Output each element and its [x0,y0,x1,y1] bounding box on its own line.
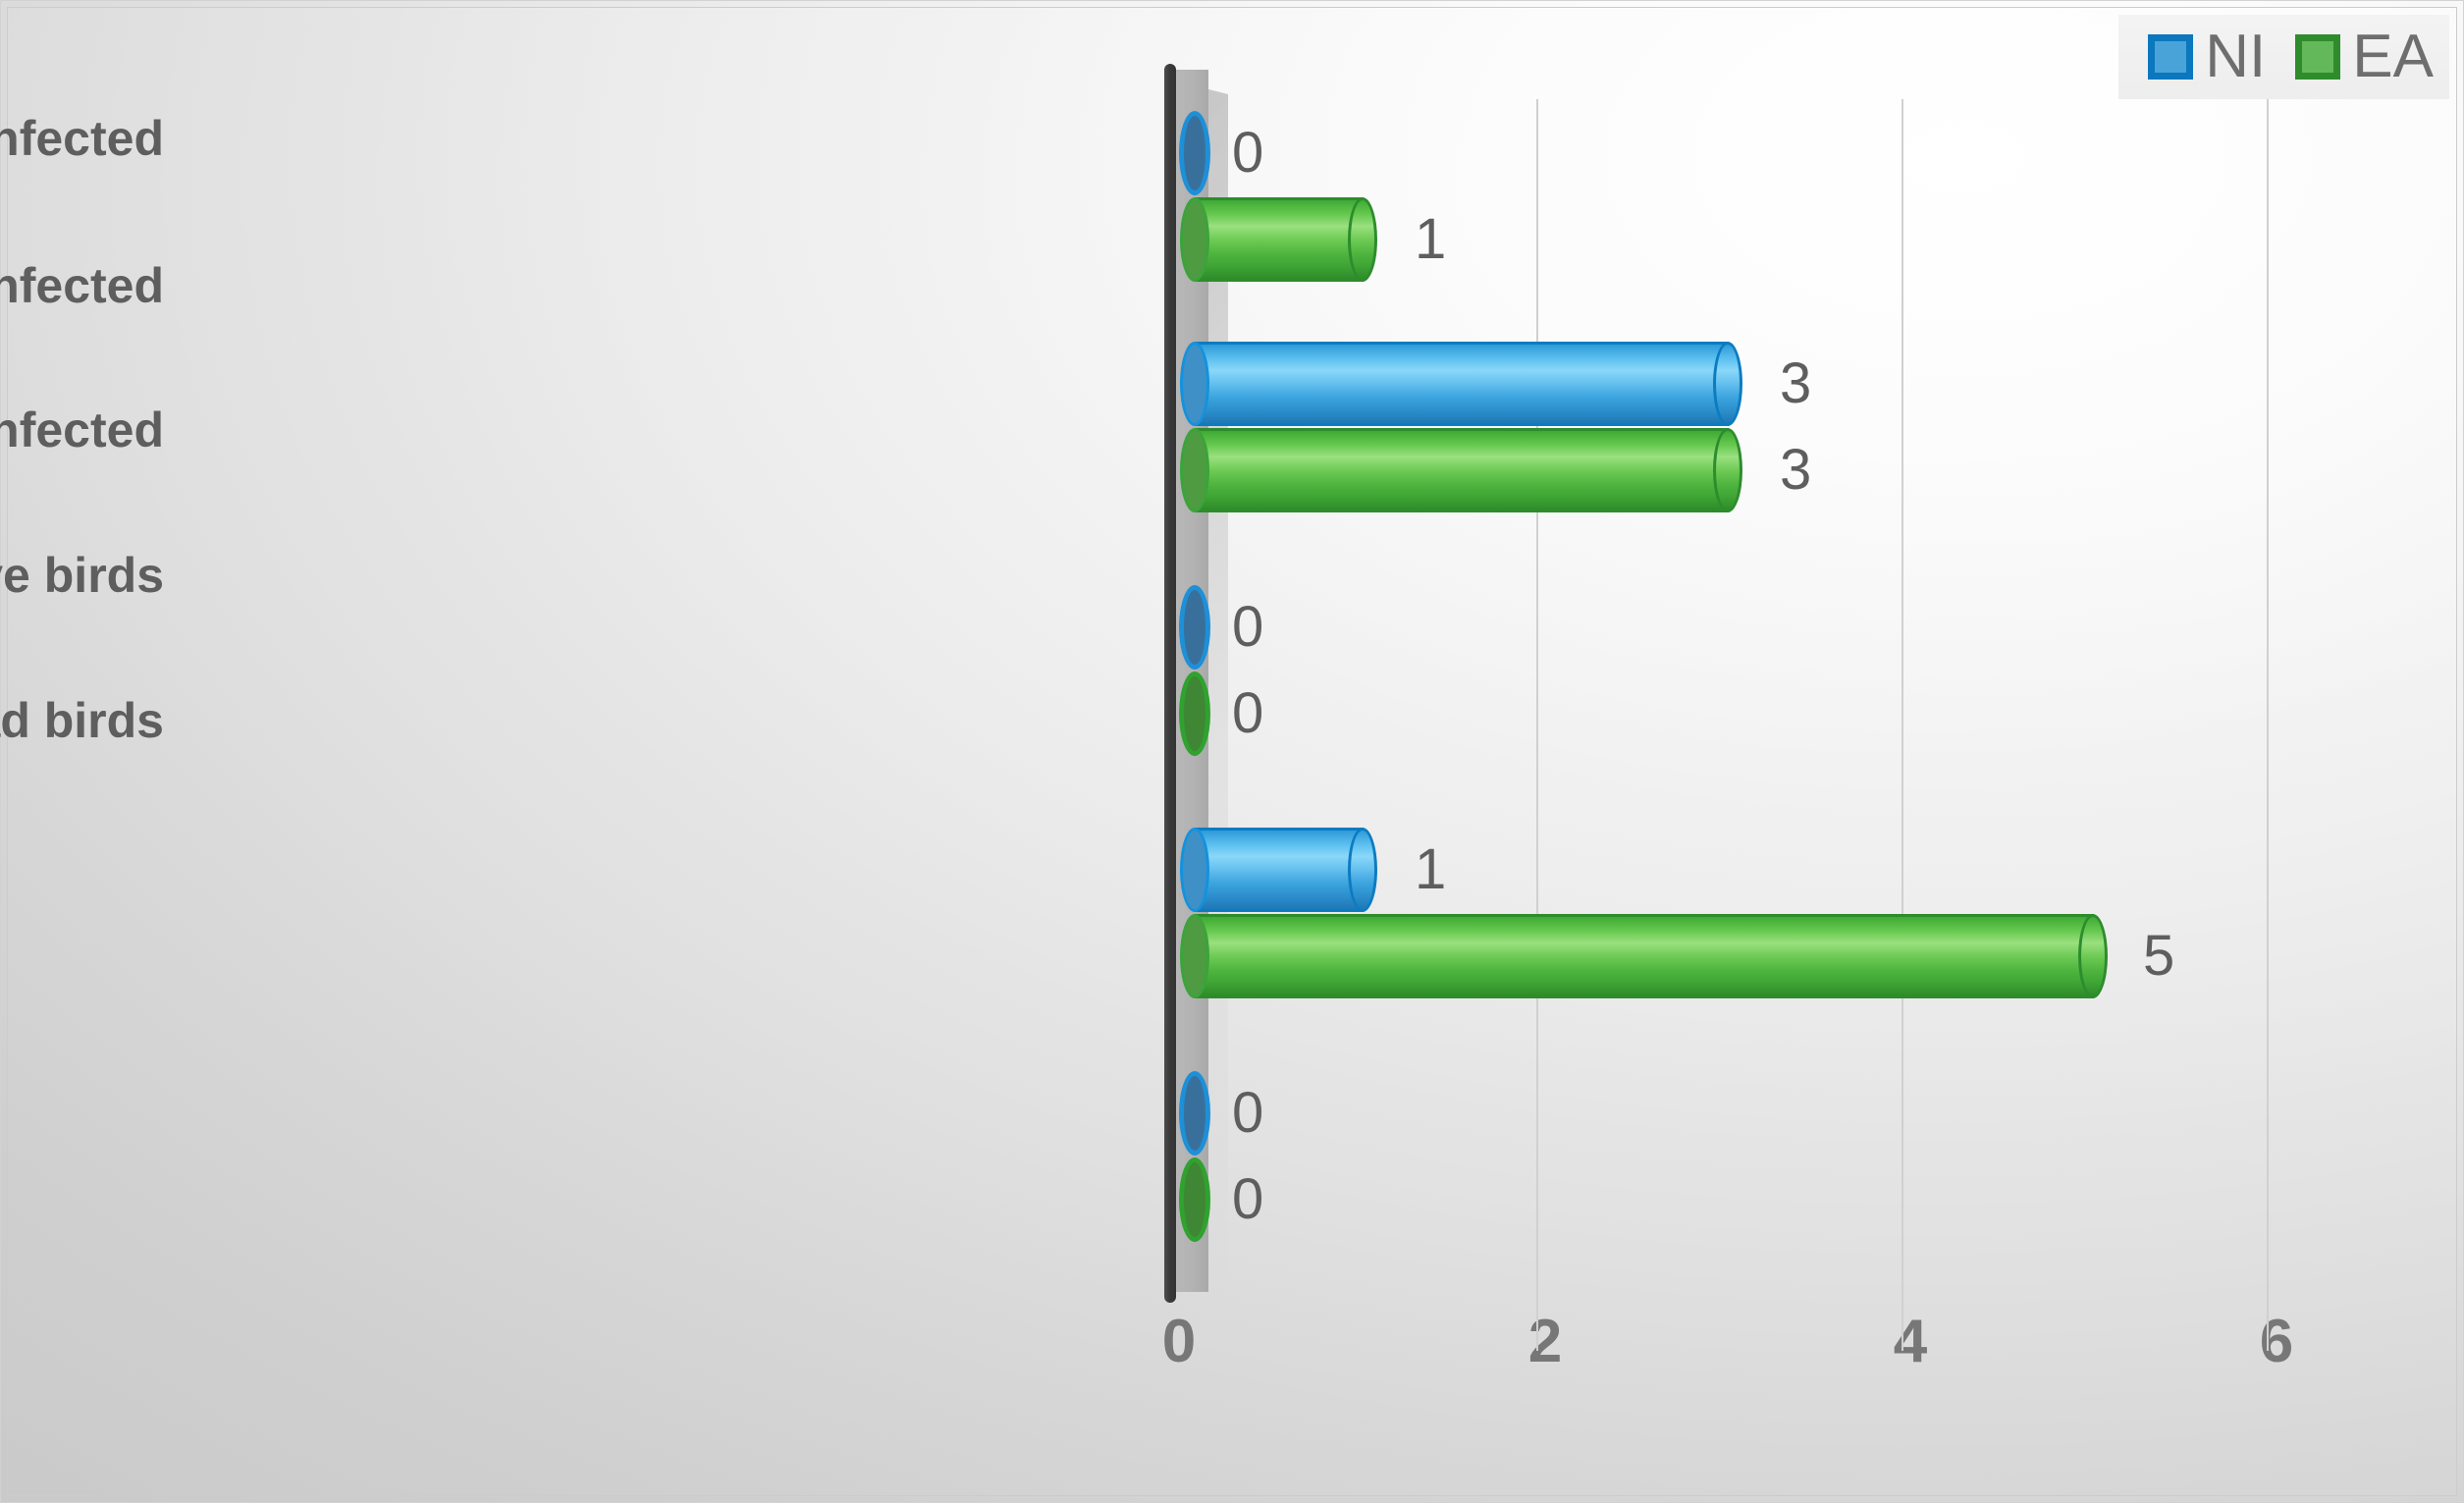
chart-frame: Clinically & non-clinically infected Cli… [0,0,2464,1503]
bar-cap [1713,342,1742,426]
bar-ni-3[interactable] [1195,828,1377,912]
plot-area: 0 1 3 3 0 0 [1171,70,2290,1292]
bar-cap [1180,197,1209,282]
category-axis-line [1164,64,1176,1303]
x-tick-label-0: 0 [1162,1307,1196,1376]
bar-ni-1[interactable] [1195,342,1742,426]
blue-square-swatch-icon [2148,34,2193,80]
bar-cap [1179,111,1210,195]
bar-cap [1179,585,1210,670]
bar-ea-0[interactable] [1195,197,1377,282]
bar-value-label-ni-2: 0 [1232,585,1263,670]
bar-cap [1348,197,1377,282]
gridline-4 [1902,99,1903,1351]
bar-cap [1180,914,1209,998]
category-label-3: Dead and alive birds [0,551,164,600]
x-tick-label-2: 4 [1894,1307,1927,1376]
category-label-1: Clinically infected [0,261,164,310]
bar-value-label-ea-0: 1 [1415,197,1446,282]
bar-value-label-ea-2: 0 [1232,671,1263,756]
bar-cap [1180,342,1209,426]
bar-value-label-ea-3: 5 [2143,914,2174,998]
bar-cap [1179,1157,1210,1242]
bar-value-label-ni-0: 0 [1232,111,1263,195]
bar-cap [1713,428,1742,512]
gridline-6 [2267,99,2269,1351]
bar-ea-1[interactable] [1195,428,1742,512]
bar-body [1195,197,1364,282]
green-square-swatch-icon [2295,34,2340,80]
category-label-0: Clinically & non-clinically infected [0,114,164,163]
legend-item-ni[interactable]: NI [2148,27,2266,87]
category-label-4: Dead birds [0,696,164,745]
bar-value-label-ni-1: 3 [1780,342,1811,426]
bar-body [1195,828,1364,912]
bar-body [1195,914,2094,998]
legend-label-ea: EA [2352,27,2434,87]
bar-value-label-ea-1: 3 [1780,428,1811,512]
bar-cap [1179,1071,1210,1155]
bar-cap [1180,828,1209,912]
legend-label-ni: NI [2205,27,2266,87]
bar-cap [1348,828,1377,912]
gridline-2 [1536,99,1538,1351]
bar-value-label-ni-3: 1 [1415,828,1446,912]
bar-value-label-ni-4: 0 [1232,1071,1263,1155]
bar-cap [2078,914,2108,998]
chart-legend: NI EA [2118,15,2449,99]
x-tick-label-1: 2 [1528,1307,1562,1376]
bar-value-label-ea-4: 0 [1232,1157,1263,1242]
bar-ea-3[interactable] [1195,914,2108,998]
x-tick-label-3: 6 [2260,1307,2293,1376]
bar-cap [1180,428,1209,512]
bar-cap [1179,671,1210,756]
legend-item-ea[interactable]: EA [2295,27,2434,87]
category-label-2: Non-clinically infected [0,405,164,455]
bar-body [1195,342,1729,426]
bar-body [1195,428,1729,512]
